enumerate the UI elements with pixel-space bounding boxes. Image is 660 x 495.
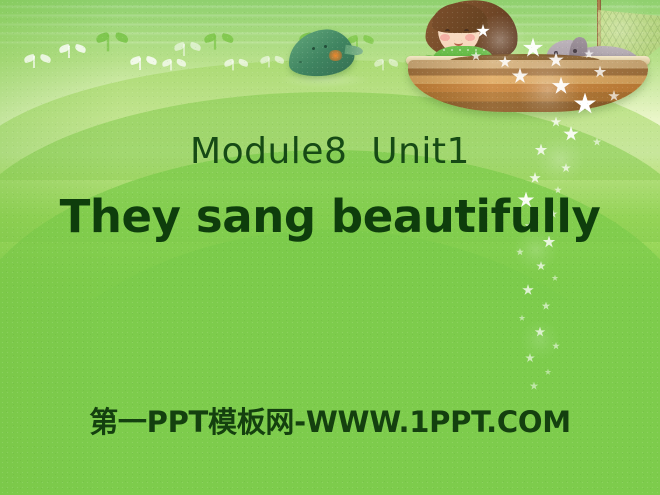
page-title: They sang beautifully bbox=[0, 190, 660, 243]
watermark-text: 第一PPT模板网-WWW.1PPT.COM bbox=[0, 399, 660, 441]
slide-subtitle: Module8 Unit1 bbox=[0, 131, 660, 172]
presentation-slide: Module8 Unit1 They sang beautifully 第一PP… bbox=[0, 0, 660, 495]
